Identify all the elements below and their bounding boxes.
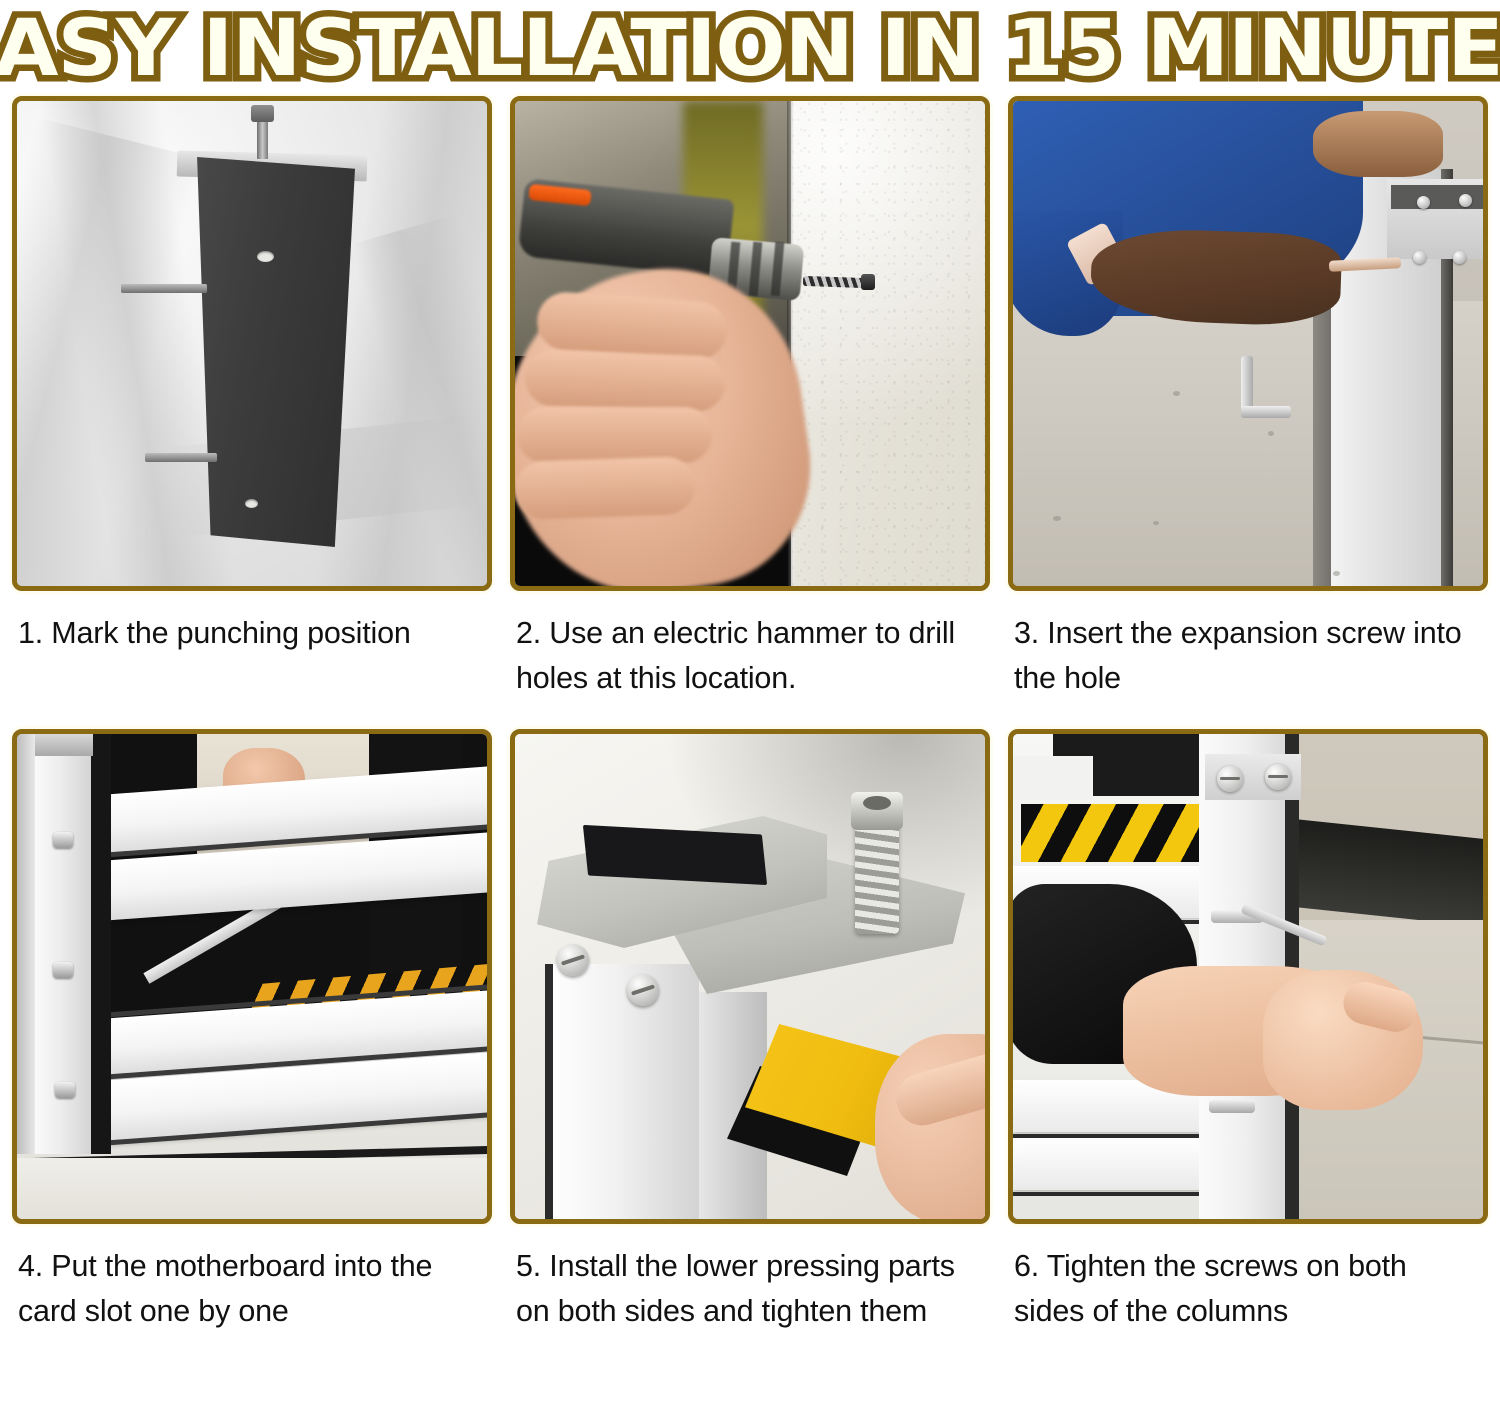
step-card-6: 6. Tighten the screws on both sides of t… xyxy=(1008,729,1488,1384)
step-card-4: 4. Put the motherboard into the card slo… xyxy=(12,729,492,1384)
page-title: EASY INSTALLATION IN 15 MINUTES xyxy=(0,10,1500,88)
photo-boards-into-card-slot xyxy=(17,734,487,1219)
step-3-caption: 3. Insert the expansion screw into the h… xyxy=(1008,591,1488,729)
header-banner: EASY INSTALLATION IN 15 MINUTES xyxy=(0,0,1500,96)
step-4-photo-frame xyxy=(12,729,492,1224)
step-card-2: 2. Use an electric hammer to drill holes… xyxy=(510,96,990,729)
step-1-caption: 1. Mark the punching position xyxy=(12,591,492,729)
steps-row-2: 4. Put the motherboard into the card slo… xyxy=(0,729,1500,1384)
step-2-photo-frame xyxy=(510,96,990,591)
step-6-photo-frame xyxy=(1008,729,1488,1224)
step-card-3: 3. Insert the expansion screw into the h… xyxy=(1008,96,1488,729)
step-card-5: 5. Install the lower pressing parts on b… xyxy=(510,729,990,1384)
photo-pressing-bracket-closeup xyxy=(515,734,985,1219)
step-4-caption: 4. Put the motherboard into the card slo… xyxy=(12,1224,492,1384)
steps-row-1: 1. Mark the punching position 2. Use an … xyxy=(0,96,1500,729)
photo-hand-drilling-hole-in-wall xyxy=(515,101,985,586)
photo-tightening-column-screws xyxy=(1013,734,1483,1219)
step-1-photo-frame xyxy=(12,96,492,591)
step-6-caption: 6. Tighten the screws on both sides of t… xyxy=(1008,1224,1488,1384)
step-5-caption: 5. Install the lower pressing parts on b… xyxy=(510,1224,990,1384)
photo-worker-inserting-expansion-screw xyxy=(1013,101,1483,586)
step-2-caption: 2. Use an electric hammer to drill holes… xyxy=(510,591,990,729)
step-5-photo-frame xyxy=(510,729,990,1224)
photo-dark-column-bracket-on-white-cloth xyxy=(17,101,487,586)
step-card-1: 1. Mark the punching position xyxy=(12,96,492,729)
step-3-photo-frame xyxy=(1008,96,1488,591)
